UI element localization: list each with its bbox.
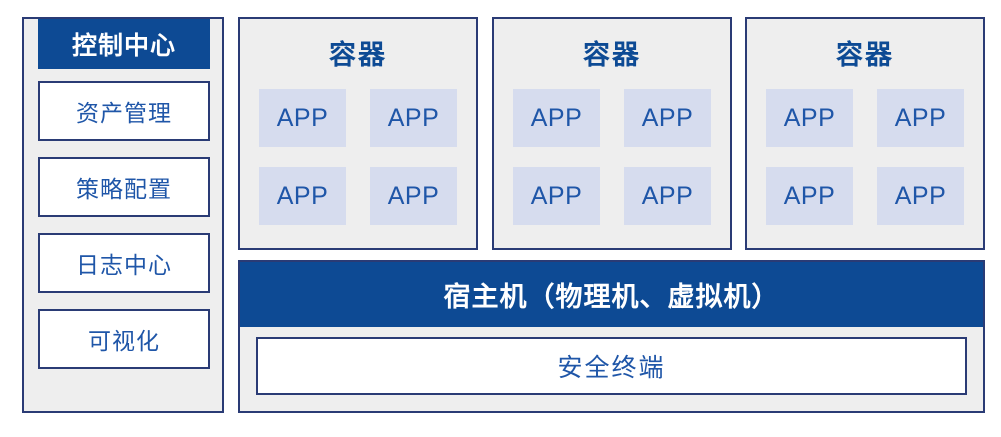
container-title: 容器 bbox=[747, 33, 983, 72]
sidebar-item-label: 日志中心 bbox=[76, 246, 172, 280]
control-center-panel: 控制中心 资产管理 策略配置 日志中心 可视化 bbox=[22, 17, 224, 413]
app-cell[interactable]: APP bbox=[877, 167, 964, 225]
app-cell[interactable]: APP bbox=[513, 167, 600, 225]
sidebar-item-label: 可视化 bbox=[88, 322, 160, 356]
container-box: 容器 APP APP APP APP bbox=[238, 17, 478, 250]
control-center-item-list: 资产管理 策略配置 日志中心 可视化 bbox=[38, 81, 210, 369]
sidebar-item-asset-management[interactable]: 资产管理 bbox=[38, 81, 210, 141]
app-cell[interactable]: APP bbox=[370, 167, 457, 225]
sidebar-item-visualization[interactable]: 可视化 bbox=[38, 309, 210, 369]
container-box: 容器 APP APP APP APP bbox=[745, 17, 985, 250]
app-cell[interactable]: APP bbox=[370, 89, 457, 147]
sidebar-item-log-center[interactable]: 日志中心 bbox=[38, 233, 210, 293]
sidebar-item-policy-configuration[interactable]: 策略配置 bbox=[38, 157, 210, 217]
control-center-header: 控制中心 bbox=[38, 19, 210, 69]
container-title: 容器 bbox=[240, 33, 476, 72]
app-cell[interactable]: APP bbox=[513, 89, 600, 147]
host-machine-header: 宿主机（物理机、虚拟机） bbox=[240, 262, 983, 327]
security-endpoint-box[interactable]: 安全终端 bbox=[256, 337, 967, 395]
sidebar-item-label: 资产管理 bbox=[76, 94, 172, 128]
app-cell[interactable]: APP bbox=[766, 167, 853, 225]
app-cell[interactable]: APP bbox=[877, 89, 964, 147]
app-grid: APP APP APP APP bbox=[494, 89, 730, 225]
host-machine-panel: 宿主机（物理机、虚拟机） 安全终端 bbox=[238, 260, 985, 413]
sidebar-item-label: 策略配置 bbox=[76, 170, 172, 204]
app-cell[interactable]: APP bbox=[259, 167, 346, 225]
app-cell[interactable]: APP bbox=[624, 89, 711, 147]
app-cell[interactable]: APP bbox=[259, 89, 346, 147]
architecture-diagram: 控制中心 资产管理 策略配置 日志中心 可视化 容器 APP APP APP A… bbox=[0, 0, 1001, 437]
app-grid: APP APP APP APP bbox=[747, 89, 983, 225]
container-title: 容器 bbox=[494, 33, 730, 72]
app-grid: APP APP APP APP bbox=[240, 89, 476, 225]
app-cell[interactable]: APP bbox=[624, 167, 711, 225]
container-box: 容器 APP APP APP APP bbox=[492, 17, 732, 250]
app-cell[interactable]: APP bbox=[766, 89, 853, 147]
